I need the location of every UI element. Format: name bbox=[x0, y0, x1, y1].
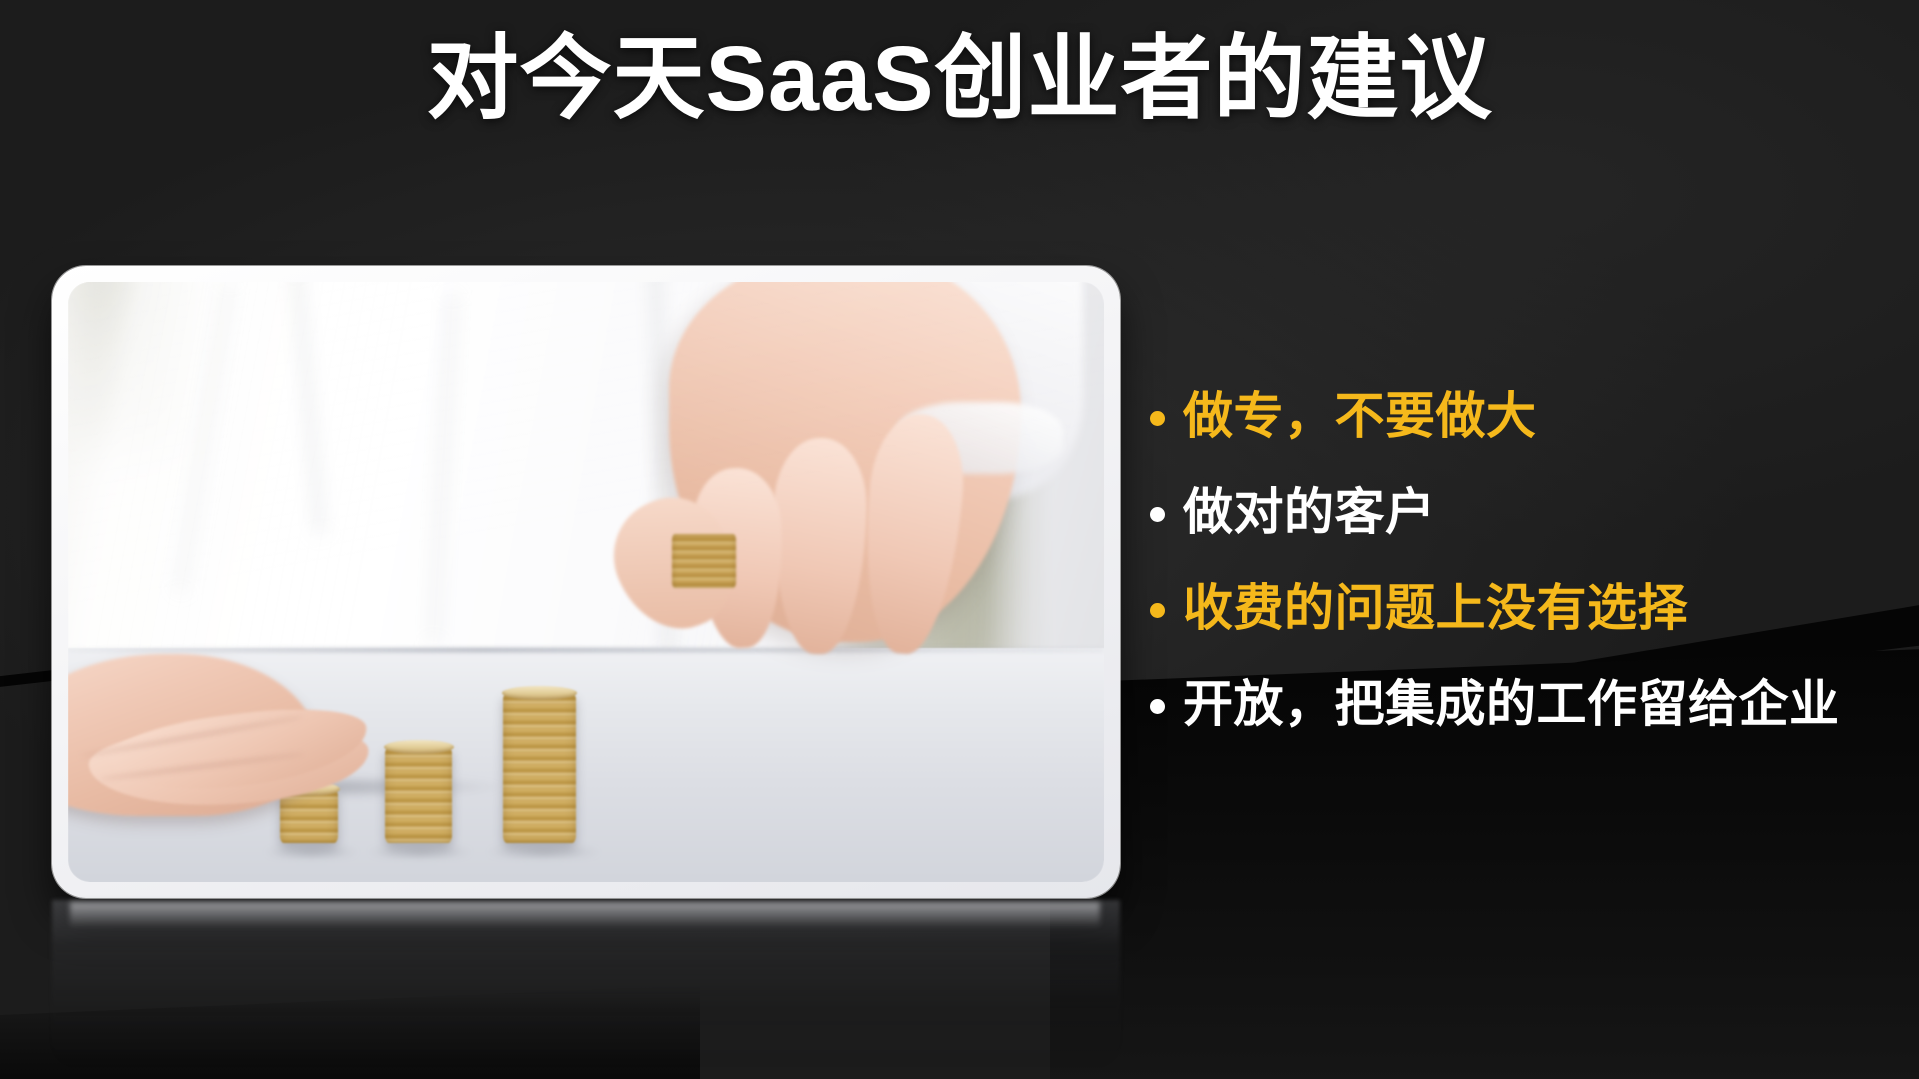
advice-bullet-list: 做专，不要做大 做对的客户 收费的问题上没有选择 开放，把集成的工作留给企业 bbox=[1150, 368, 1910, 752]
photo-container bbox=[52, 266, 1120, 898]
bullet-label-3: 收费的问题上没有选择 bbox=[1183, 583, 1688, 633]
photo-table-edge bbox=[68, 648, 1104, 652]
photo-held-coin bbox=[672, 534, 736, 588]
bullet-item-4: 开放，把集成的工作留给企业 bbox=[1150, 656, 1910, 752]
coins-photo bbox=[68, 282, 1104, 882]
photo-frame bbox=[52, 266, 1120, 898]
bullet-dot-icon bbox=[1150, 411, 1165, 426]
bullet-label-1: 做专，不要做大 bbox=[1183, 391, 1537, 441]
photo-coin-shadow bbox=[368, 847, 472, 857]
bullet-item-1: 做专，不要做大 bbox=[1150, 368, 1910, 464]
photo-coin-shadow bbox=[265, 847, 358, 857]
bullet-dot-icon bbox=[1150, 603, 1165, 618]
presentation-slide: 对今天SaaS创业者的建议 bbox=[0, 0, 1919, 1079]
bullet-item-3: 收费的问题上没有选择 bbox=[1150, 560, 1910, 656]
diagonal-wedge-bottom bbox=[0, 985, 700, 1079]
bullet-item-2: 做对的客户 bbox=[1150, 464, 1910, 560]
photo-reflection-sheen bbox=[70, 902, 1100, 928]
bullet-label-4: 开放，把集成的工作留给企业 bbox=[1183, 679, 1840, 729]
photo-coin-shadow bbox=[487, 847, 601, 857]
slide-title: 对今天SaaS创业者的建议 bbox=[0, 28, 1919, 131]
photo-coin-stack-large bbox=[503, 693, 576, 843]
bullet-dot-icon bbox=[1150, 507, 1165, 522]
photo-scene bbox=[68, 282, 1104, 882]
bullet-label-2: 做对的客户 bbox=[1183, 487, 1436, 537]
photo-reflection bbox=[52, 900, 1120, 1070]
photo-coin-stack-medium bbox=[385, 747, 452, 843]
bullet-dot-icon bbox=[1150, 699, 1165, 714]
